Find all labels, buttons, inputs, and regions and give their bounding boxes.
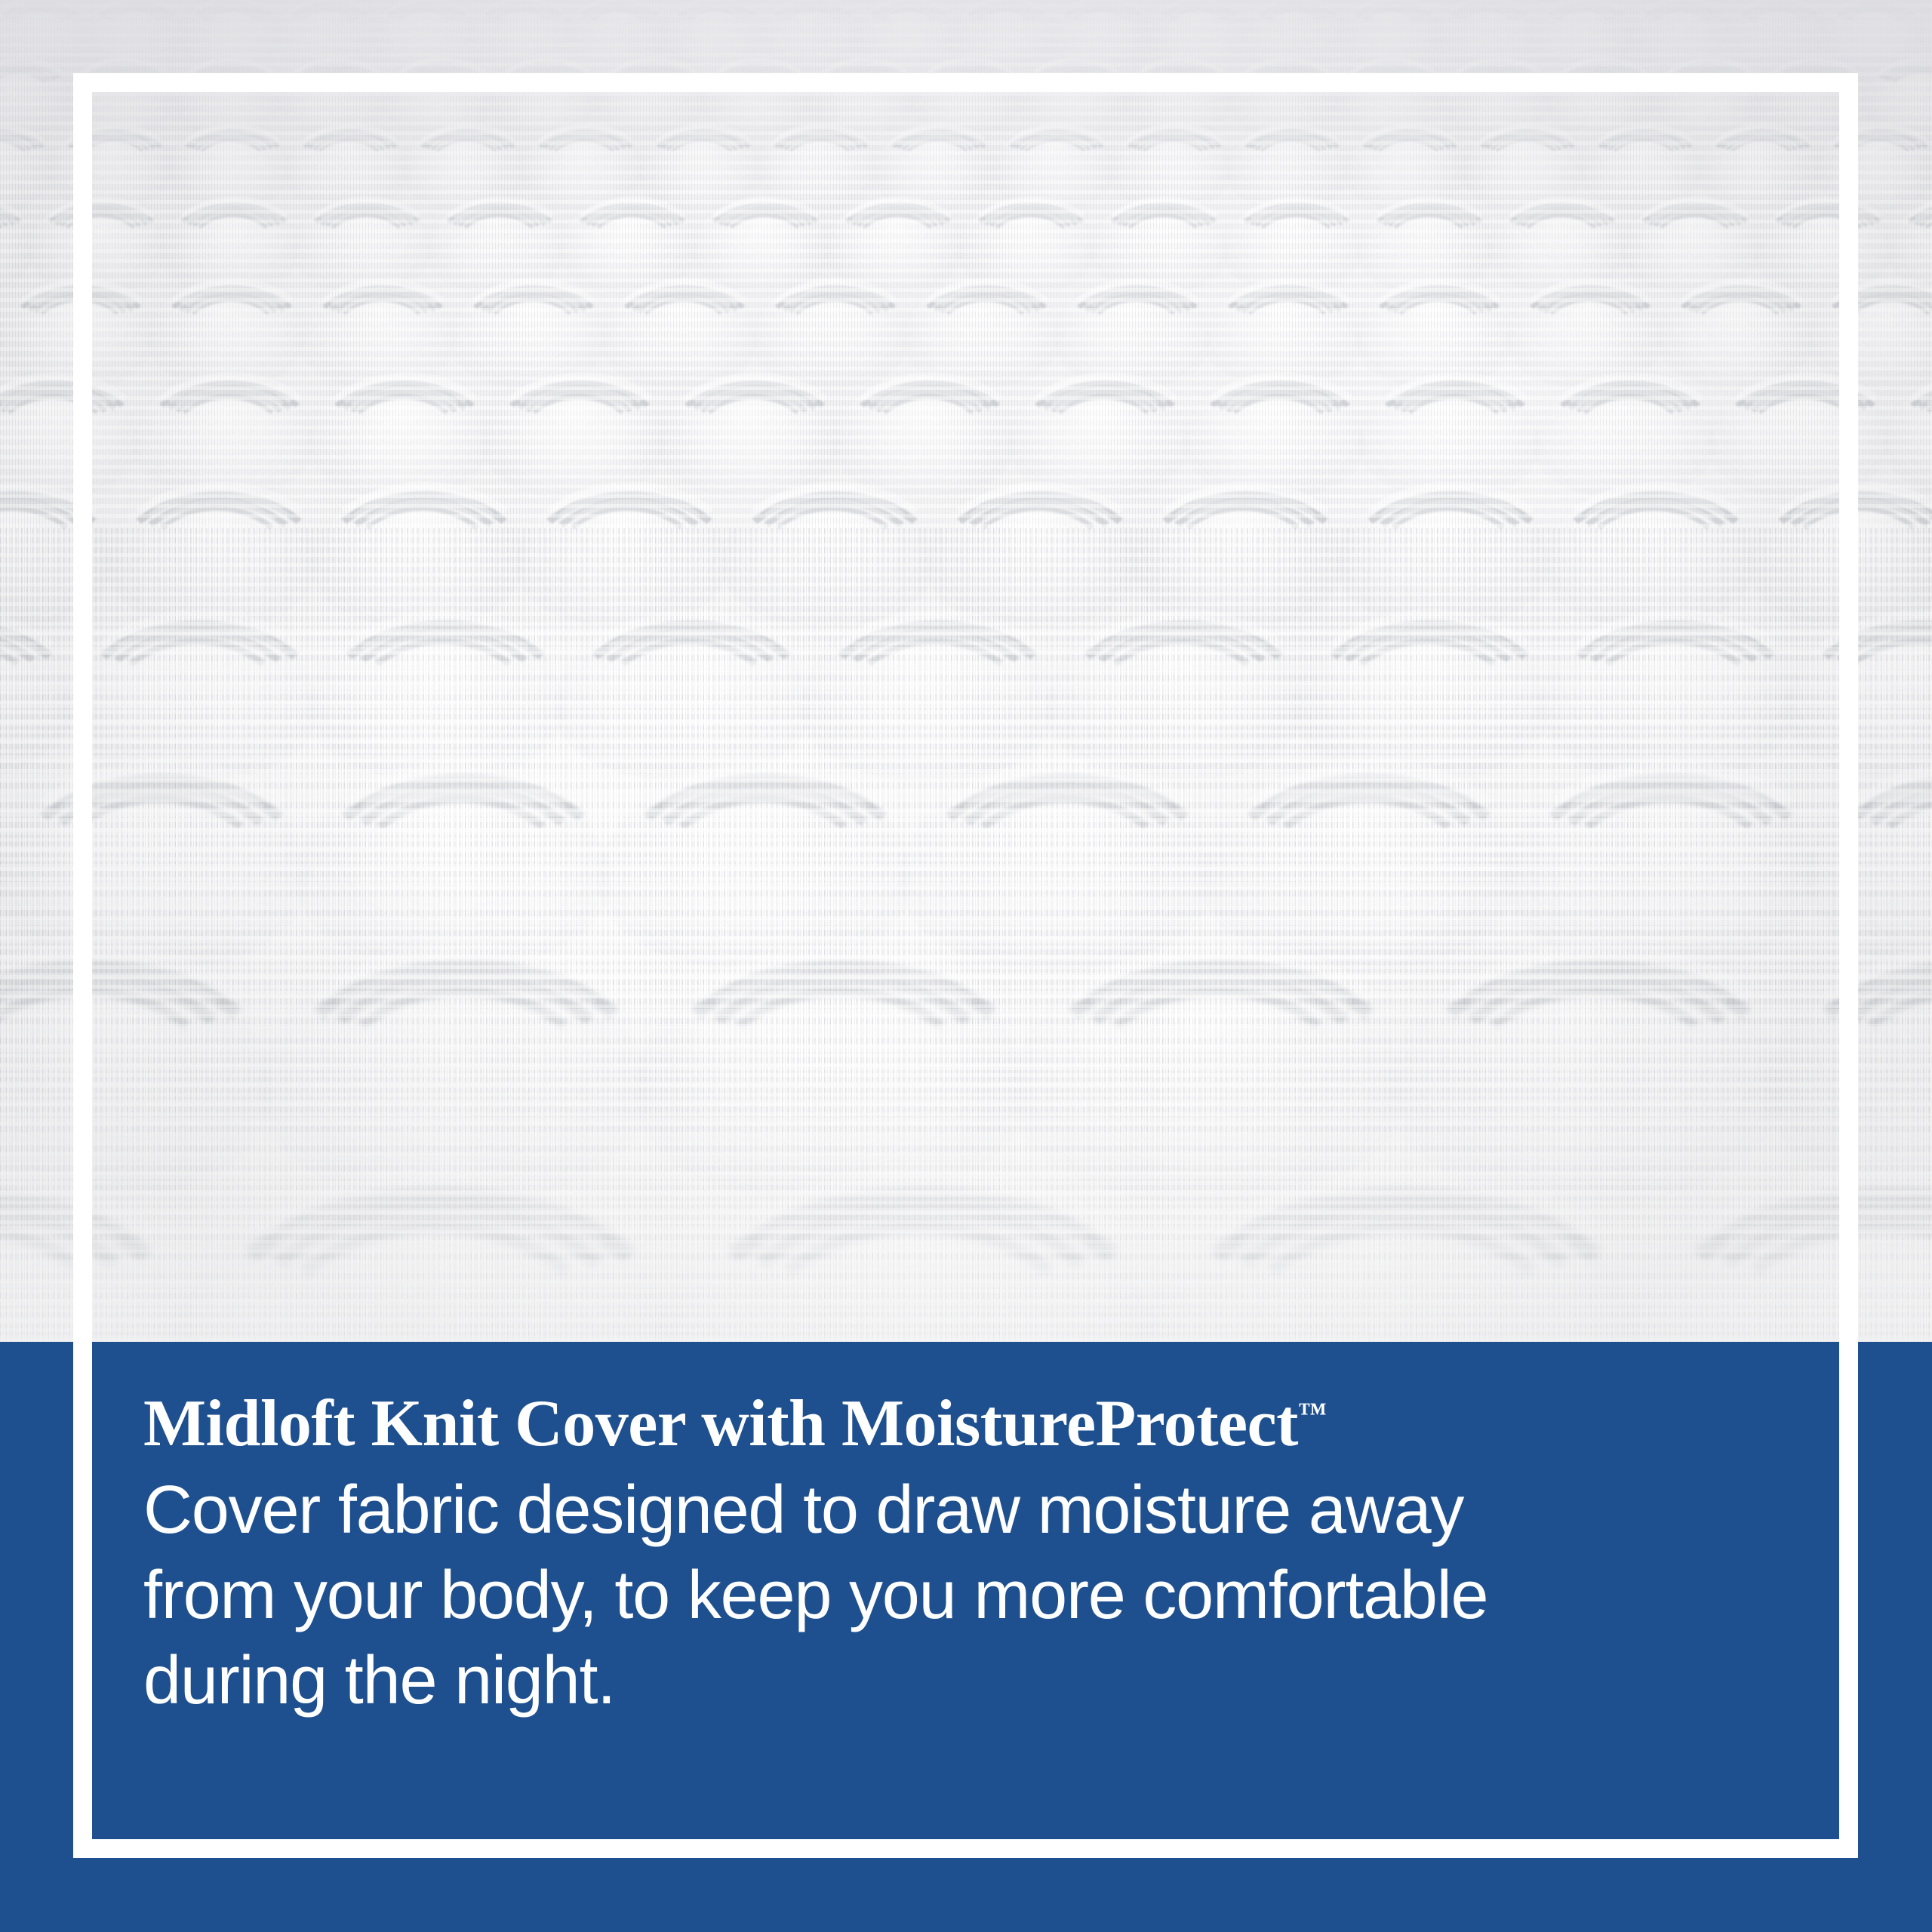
frame-border-bottom: [73, 1839, 1858, 1858]
frame-border-top: [73, 73, 1858, 92]
frame-border-right: [1839, 73, 1858, 1858]
description-line-3: during the night.: [143, 1638, 1789, 1724]
description-paragraph: Cover fabric designed to draw moisture a…: [143, 1468, 1789, 1724]
description-line-2: from your body, to keep you more comfort…: [143, 1553, 1789, 1638]
product-feature-card: Midloft Knit Cover with MoistureProtect™…: [0, 0, 1932, 1932]
headline-text: Midloft Knit Cover with MoistureProtect: [143, 1387, 1298, 1460]
fabric-photo: [0, 0, 1932, 1342]
headline: Midloft Knit Cover with MoistureProtect™: [143, 1391, 1789, 1457]
caption-text-block: Midloft Knit Cover with MoistureProtect™…: [143, 1391, 1789, 1724]
trademark-symbol: ™: [1298, 1398, 1327, 1429]
vignette: [0, 0, 1932, 1342]
frame-border-left: [73, 73, 92, 1858]
description-line-1: Cover fabric designed to draw moisture a…: [143, 1468, 1789, 1553]
